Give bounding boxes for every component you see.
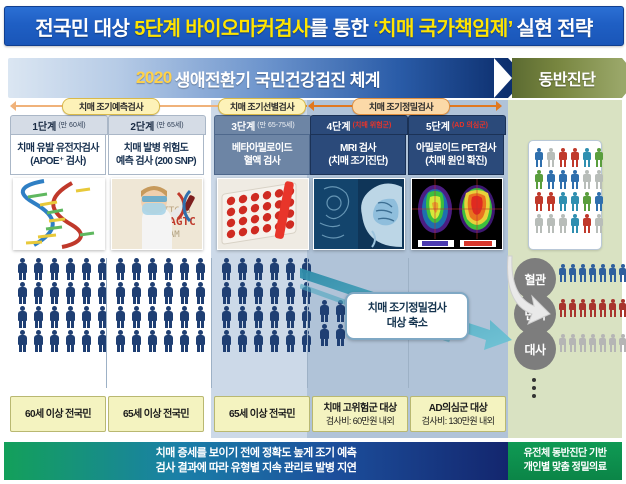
person-icon — [96, 330, 109, 352]
stage-4-header: 4단계 (치매 위험군) — [310, 115, 408, 135]
person-icon — [48, 306, 61, 328]
person-icon — [588, 264, 597, 282]
stage-1-number: 1단계 — [32, 118, 56, 133]
footer-right-line2: 개인별 맞춤 정밀의료 — [524, 461, 607, 475]
target-5-line2: 검사비: 130만원 내외 — [422, 415, 495, 427]
stage-2-number: 2단계 — [130, 118, 154, 133]
footer-right-message: 유전체 동반진단 기반 개인별 맞춤 정밀의료 — [508, 442, 622, 480]
stage-3-age: (만 65-75세) — [257, 120, 294, 130]
person-icon — [48, 330, 61, 352]
target-4-line2: 검사비: 60만원 내외 — [326, 415, 394, 427]
person-icon — [146, 330, 159, 352]
person-icon — [130, 258, 143, 280]
person-icon — [236, 306, 249, 328]
stage-5-name-line1: 아밀로이드 PET검사 — [416, 142, 496, 155]
person-icon — [64, 330, 77, 352]
person-icon — [598, 299, 607, 317]
callout-line1: 치매 조기정밀검사 — [368, 301, 447, 316]
person-icon — [114, 306, 127, 328]
target-5-line1: AD의심군 대상 — [429, 402, 487, 415]
person-icon — [146, 258, 159, 280]
person-icon — [16, 330, 29, 352]
stage-5-name: 아밀로이드 PET검사 (치매 원인 확진) — [408, 135, 504, 175]
person-icon — [220, 282, 233, 304]
stage-1-header: 1단계 (만 60세) — [10, 115, 108, 135]
title-part2: 를 통한 — [310, 18, 373, 40]
person-icon — [594, 170, 604, 189]
person-icon — [236, 282, 249, 304]
person-icon — [284, 282, 297, 304]
person-icon — [16, 306, 29, 328]
target-2-line1: 65세 이상 전국민 — [123, 408, 189, 421]
person-icon — [534, 148, 544, 167]
stage-2-name-line1: 치매 발병 위험도 — [124, 142, 189, 155]
stage-1-name-line2: (APOE⁺ 검사) — [30, 155, 85, 168]
arrow-right-3-icon — [496, 101, 502, 111]
stage-4-name-line2: (치매 조기진단) — [328, 155, 387, 168]
stage-column-1[interactable]: 1단계 (만 60세) 치매 유발 유전자검사 (APOE⁺ 검사) — [10, 115, 106, 175]
dna-helix-icon — [14, 179, 104, 249]
person-icon — [582, 214, 592, 233]
person-icon — [194, 258, 207, 280]
person-icon — [578, 299, 587, 317]
stage-3-name: 베타아밀로이드 혈액 검사 — [214, 135, 310, 175]
person-icon — [114, 330, 127, 352]
person-icon — [80, 282, 93, 304]
person-icon — [568, 264, 577, 282]
stage-4-image-mri-brain — [313, 178, 405, 250]
stage-5-image-amyloid-pet — [411, 178, 503, 250]
group-label-screening: 치매 조기선별검사 — [218, 98, 306, 115]
stage-3-header: 3단계 (만 65-75세) — [214, 115, 312, 135]
person-icon — [220, 258, 233, 280]
person-icon — [194, 306, 207, 328]
title-highlight1: 5단계 바이오마커검사 — [134, 18, 310, 40]
person-icon — [582, 170, 592, 189]
target-box-stage-3: 65세 이상 전국민 — [214, 396, 310, 432]
circle-vascular-label: 혈관 — [524, 271, 545, 288]
column-divider-3 — [307, 258, 308, 388]
person-icon — [594, 148, 604, 167]
stage-2-name: 치매 발병 위험도 예측 검사 (200 SNP) — [108, 135, 204, 175]
person-icon — [588, 299, 597, 317]
person-icon — [570, 170, 580, 189]
stage-1-name-line1: 치매 유발 유전자검사 — [17, 142, 99, 155]
stage-1-name: 치매 유발 유전자검사 (APOE⁺ 검사) — [10, 135, 106, 175]
circle-metabolic-label: 대사 — [524, 341, 545, 358]
footer-left-line1: 치매 증세를 보이기 전에 정확도 높게 조기 예측 — [156, 446, 357, 461]
person-icon — [568, 299, 577, 317]
title-part1: 전국민 대상 — [35, 18, 134, 40]
person-icon — [32, 330, 45, 352]
person-icon — [570, 148, 580, 167]
person-icon — [146, 282, 159, 304]
person-icon — [558, 214, 568, 233]
target-box-stage-1: 60세 이상 전국민 — [10, 396, 106, 432]
circle-metabolic: 대사 — [514, 328, 556, 370]
people-row-immune — [558, 299, 626, 317]
person-icon — [48, 282, 61, 304]
person-icon — [114, 282, 127, 304]
person-icon — [64, 306, 77, 328]
person-icon — [598, 334, 607, 352]
person-icon — [582, 148, 592, 167]
stage-5-header: 5단계 (AD 의심군) — [408, 115, 506, 135]
person-icon — [618, 299, 626, 317]
person-icon — [546, 170, 556, 189]
person-icon — [194, 330, 207, 352]
person-icon — [16, 258, 29, 280]
population-diversity-card — [528, 140, 602, 250]
person-icon — [268, 258, 281, 280]
person-icon — [318, 300, 331, 322]
target-box-stage-4: 치매 고위험군 대상 검사비: 60만원 내외 — [312, 396, 408, 432]
person-icon — [114, 258, 127, 280]
person-icon — [546, 192, 556, 211]
person-icon — [32, 306, 45, 328]
target-box-stage-2: 65세 이상 전국민 — [108, 396, 204, 432]
lab-scientist-icon: ATTCCG CIAGTC ACAM — [112, 179, 202, 249]
stage-5-name-line2: (치매 원인 확진) — [425, 155, 486, 168]
pet-brain-icon — [412, 179, 502, 249]
person-icon — [252, 306, 265, 328]
person-icon — [252, 258, 265, 280]
footer-left-line2: 검사 결과에 따라 유형별 지속 관리로 발병 지연 — [156, 461, 357, 476]
person-icon — [80, 258, 93, 280]
person-icon — [578, 264, 587, 282]
stage-5-number: 5단계 — [426, 118, 450, 133]
person-icon — [194, 282, 207, 304]
column-divider-2 — [211, 258, 212, 388]
stage-2-image-lab-scientist: ATTCCG CIAGTC ACAM — [111, 178, 203, 250]
group-label-precise: 치매 조기정밀검사 — [352, 98, 450, 115]
person-icon — [96, 258, 109, 280]
person-icon — [588, 334, 597, 352]
person-icon — [558, 334, 567, 352]
person-icon — [236, 330, 249, 352]
mri-brain-icon — [314, 179, 404, 249]
person-icon — [546, 148, 556, 167]
callout-reduce-target: 치매 조기정밀검사 대상 축소 — [345, 292, 469, 340]
stage-column-2[interactable]: 2단계 (만 65세) 치매 발병 위험도 예측 검사 (200 SNP) — [108, 115, 204, 175]
group-label-predictive: 치매 조기예측검사 — [62, 98, 160, 115]
stage-2-age: (만 65세) — [156, 120, 183, 130]
person-icon — [608, 299, 617, 317]
person-icon — [48, 258, 61, 280]
column-divider-1 — [106, 258, 107, 388]
target-box-stage-5: AD의심군 대상 검사비: 130만원 내외 — [410, 396, 506, 432]
person-icon — [32, 258, 45, 280]
people-row-vascular — [558, 264, 626, 282]
person-icon — [162, 330, 175, 352]
person-icon — [64, 282, 77, 304]
person-icon — [268, 282, 281, 304]
companion-diagnostics-banner: 동반진단 — [512, 58, 622, 98]
person-icon — [252, 330, 265, 352]
stage-5-age: (AD 의심군) — [452, 120, 488, 130]
stage-2-name-line2: 예측 검사 (200 SNP) — [116, 155, 196, 168]
stage-3-number: 3단계 — [231, 118, 255, 133]
header-year: 2020 — [136, 68, 172, 88]
person-icon — [534, 214, 544, 233]
person-icon — [178, 330, 191, 352]
person-icon — [570, 214, 580, 233]
person-icon — [578, 334, 587, 352]
circle-immune-label: 면역 — [524, 306, 545, 323]
header-title: 2020생애전환기 국민건강검진 체계 — [8, 58, 508, 98]
person-icon — [146, 306, 159, 328]
person-icon — [96, 282, 109, 304]
stage-column-3[interactable]: 3단계 (만 65-75세) 베타아밀로이드 혈액 검사 — [214, 115, 310, 175]
stage-4-age: (치매 위험군) — [353, 120, 392, 130]
person-icon — [130, 330, 143, 352]
person-icon — [568, 334, 577, 352]
footer-right-line1: 유전체 동반진단 기반 — [524, 447, 607, 461]
person-icon — [252, 282, 265, 304]
person-icon — [178, 258, 191, 280]
stage-4-name: MRI 검사 (치매 조기진단) — [310, 135, 406, 175]
person-icon — [178, 306, 191, 328]
person-icon — [594, 214, 604, 233]
page-title-banner: 전국민 대상 5단계 바이오마커검사를 통한 ‘치매 국가책임제’ 실현 전략 — [4, 6, 624, 46]
population-grid-stage-1 — [16, 258, 109, 352]
person-icon — [534, 192, 544, 211]
person-icon — [546, 214, 556, 233]
person-icon — [558, 170, 568, 189]
target-3-line1: 65세 이상 전국민 — [229, 408, 295, 421]
stage-1-image-dna-helix — [13, 178, 105, 250]
person-icon — [178, 282, 191, 304]
person-icon — [130, 282, 143, 304]
title-highlight2: ‘치매 국가책임제’ — [373, 18, 512, 40]
person-icon — [558, 299, 567, 317]
person-icon — [318, 324, 331, 346]
header-system-title: 생애전환기 국민건강검진 체계 — [175, 66, 380, 91]
person-icon — [558, 264, 567, 282]
people-row-metabolic — [558, 334, 626, 352]
person-icon — [268, 306, 281, 328]
stage-4-number: 4단계 — [327, 118, 351, 133]
person-icon — [534, 170, 544, 189]
title-part3: 실현 전략 — [512, 18, 593, 40]
arrow-left-icon — [10, 101, 16, 111]
companion-diagnostics-label: 동반진단 — [539, 66, 596, 90]
person-icon — [162, 306, 175, 328]
person-icon — [594, 192, 604, 211]
stage-2-header: 2단계 (만 65세) — [108, 115, 206, 135]
person-icon — [598, 264, 607, 282]
page-title: 전국민 대상 5단계 바이오마커검사를 통한 ‘치매 국가책임제’ 실현 전략 — [35, 12, 592, 41]
stage-3-name-line1: 베타아밀로이드 — [232, 142, 292, 155]
person-icon — [162, 258, 175, 280]
stage-column-4[interactable]: 4단계 (치매 위험군) MRI 검사 (치매 조기진단) — [310, 115, 406, 175]
well-plate-icon — [218, 179, 308, 249]
ellipsis-dots — [532, 374, 538, 402]
footer-left-message: 치매 증세를 보이기 전에 정확도 높게 조기 예측 검사 결과에 따라 유형별… — [4, 442, 508, 480]
person-icon — [16, 282, 29, 304]
health-screening-system-banner: 2020생애전환기 국민건강검진 체계 — [8, 58, 508, 98]
stage-4-name-line1: MRI 검사 — [340, 142, 376, 155]
person-icon — [582, 192, 592, 211]
stage-3-image-blood-well-plate — [217, 178, 309, 250]
person-icon — [220, 330, 233, 352]
person-icon — [32, 282, 45, 304]
person-icon — [558, 148, 568, 167]
callout-line2: 대상 축소 — [387, 316, 428, 331]
person-icon — [64, 258, 77, 280]
stage-3-name-line2: 혈액 검사 — [244, 155, 281, 168]
person-icon — [570, 192, 580, 211]
population-grid-stage-2 — [114, 258, 207, 352]
population-grid-stage-4 — [318, 300, 347, 346]
target-4-line1: 치매 고위험군 대상 — [323, 402, 396, 415]
person-icon — [608, 334, 617, 352]
target-1-line1: 60세 이상 전국민 — [25, 408, 91, 421]
person-icon — [284, 306, 297, 328]
person-icon — [268, 330, 281, 352]
person-icon — [80, 330, 93, 352]
person-icon — [80, 306, 93, 328]
arrow-left-3-icon — [308, 101, 314, 111]
stage-1-age: (만 60세) — [58, 120, 85, 130]
person-icon — [220, 306, 233, 328]
population-grid-stage-3 — [220, 258, 313, 352]
person-icon — [558, 192, 568, 211]
person-icon — [236, 258, 249, 280]
person-icon — [618, 264, 626, 282]
person-icon — [96, 306, 109, 328]
person-icon — [162, 282, 175, 304]
person-icon — [284, 258, 297, 280]
stage-column-5[interactable]: 5단계 (AD 의심군) 아밀로이드 PET검사 (치매 원인 확진) — [408, 115, 504, 175]
person-icon — [608, 264, 617, 282]
person-icon — [284, 330, 297, 352]
person-icon — [130, 306, 143, 328]
person-icon — [618, 334, 626, 352]
